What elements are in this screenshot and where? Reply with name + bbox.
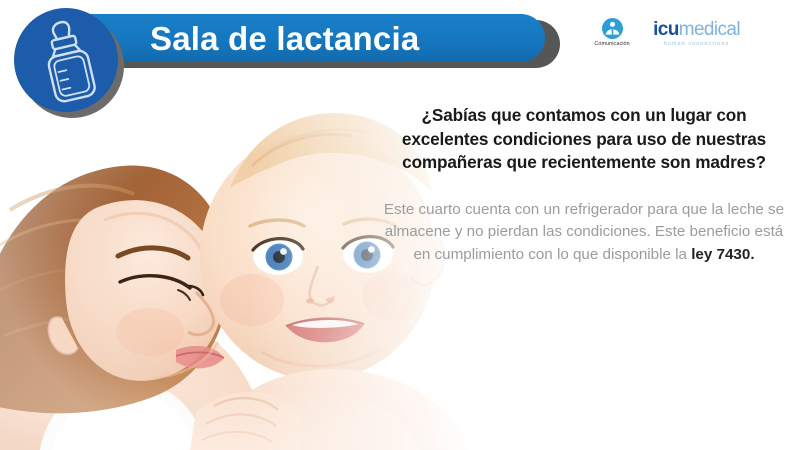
badge-circle xyxy=(14,8,118,112)
icu-brand-bold: icu xyxy=(653,19,679,40)
page-title: Sala de lactancia xyxy=(150,17,545,61)
headline-text: ¿Sabías que contamos con un lugar con ex… xyxy=(378,104,790,175)
logo-group: Comunicación icumedical human connection… xyxy=(583,18,740,47)
body-text: Este cuarto cuenta con un refrigerador p… xyxy=(378,199,790,266)
icumedical-wordmark: icumedical xyxy=(653,20,740,39)
law-reference: ley 7430. xyxy=(691,246,754,263)
icumedical-tagline: human connections xyxy=(653,41,740,47)
poster-canvas: Sala de lactancia xyxy=(0,0,800,450)
comunicacion-circle-icon xyxy=(602,18,623,39)
comunicacion-label: Comunicación xyxy=(594,41,629,47)
copy-block: ¿Sabías que contamos con un lugar con ex… xyxy=(378,104,790,266)
comunicacion-logo: Comunicación xyxy=(583,18,641,47)
icumedical-logo: icumedical human connections xyxy=(653,18,740,47)
baby-bottle-icon xyxy=(14,8,118,112)
icu-brand-light: medical xyxy=(679,19,740,40)
